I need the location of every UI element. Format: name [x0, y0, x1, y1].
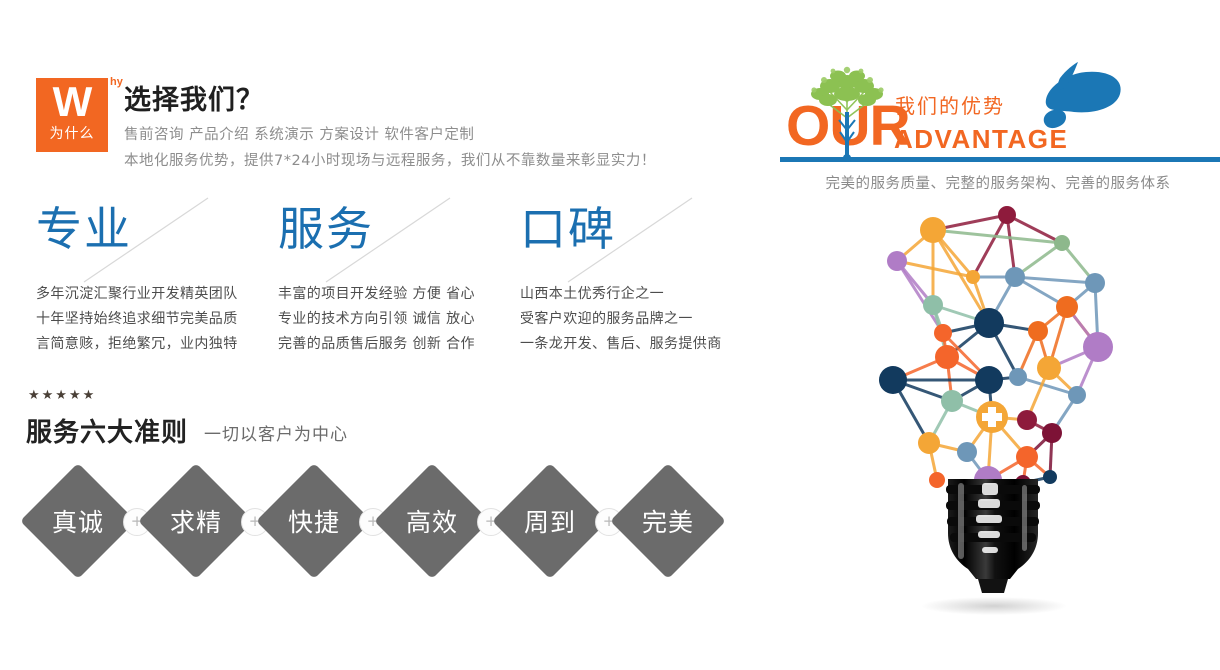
feature-description: 山西本土优秀行企之一 受客户欢迎的服务品牌之一 一条龙开发、售后、服务提供商 — [520, 282, 770, 357]
principle-label: 高效 — [374, 463, 490, 579]
why-logo-mark: W — [36, 78, 108, 124]
network-node-graph — [850, 205, 1150, 505]
principle-label: 完美 — [610, 463, 726, 579]
water-splash-icon — [1038, 60, 1148, 132]
principle-diamond[interactable]: 求精 — [138, 463, 254, 579]
advantage-subtitle: 完美的服务质量、完整的服务架构、完善的服务体系 — [778, 172, 1218, 193]
why-us-services-line: 售前咨询 产品介绍 系统演示 方案设计 软件客户定制 — [124, 123, 474, 144]
principles-title: 服务六大准则 — [26, 412, 188, 449]
principles-subtitle: 一切以客户为中心 — [204, 420, 348, 445]
principle-diamond[interactable]: 完美 — [610, 463, 726, 579]
feature-line: 山西本土优秀行企之一 — [520, 282, 770, 307]
left-panel: W 为什么 hy 选择我们？ 售前咨询 产品介绍 系统演示 方案设计 软件客户定… — [0, 0, 770, 670]
bulb-drop-shadow — [922, 597, 1066, 615]
principle-diamond[interactable]: 真诚 — [20, 463, 136, 579]
feature-line: 受客户欢迎的服务品牌之一 — [520, 307, 770, 332]
lightbulb-network-graphic — [850, 205, 1150, 625]
feature-column-reputation: 口碑 山西本土优秀行企之一 受客户欢迎的服务品牌之一 一条龙开发、售后、服务提供… — [514, 200, 764, 365]
feature-description: 丰富的项目开发经验 方便 省心 专业的技术方向引领 诚信 放心 完善的品质售后服… — [278, 282, 528, 357]
why-us-header: W 为什么 hy 选择我们？ 售前咨询 产品介绍 系统演示 方案设计 软件客户定… — [36, 76, 676, 176]
bulb-screw-base-icon — [938, 475, 1048, 600]
why-us-description-line: 本地化服务优势，提供7*24小时现场与远程服务，我们从不靠数量来彰显实力！ — [124, 149, 656, 170]
why-logo-badge: W 为什么 — [36, 78, 108, 152]
feature-line: 完善的品质售后服务 创新 合作 — [278, 332, 528, 357]
feature-line: 丰富的项目开发经验 方便 省心 — [278, 282, 528, 307]
principle-label: 真诚 — [20, 463, 136, 579]
feature-heading: 专业 — [36, 200, 132, 258]
feature-description: 多年沉淀汇聚行业开发精英团队 十年坚持始终追求细节完美品质 言简意赅，拒绝繁冗，… — [36, 282, 286, 357]
principle-diamond[interactable]: 高效 — [374, 463, 490, 579]
principle-label: 求精 — [138, 463, 254, 579]
principle-label: 快捷 — [256, 463, 372, 579]
feature-line: 十年坚持始终追求细节完美品质 — [36, 307, 286, 332]
why-logo-sub-label: 为什么 — [36, 124, 108, 144]
why-logo-superscript: hy — [110, 76, 123, 88]
feature-line: 专业的技术方向引领 诚信 放心 — [278, 307, 528, 332]
feature-heading: 口碑 — [520, 200, 616, 258]
principle-diamond[interactable]: 周到 — [492, 463, 608, 579]
feature-heading: 服务 — [278, 200, 374, 258]
advantage-chinese-label: 我们的优势 — [895, 90, 1005, 119]
feature-column-professional: 专业 多年沉淀汇聚行业开发精英团队 十年坚持始终追求细节完美品质 言简意赅，拒绝… — [30, 200, 280, 365]
feature-line: 多年沉淀汇聚行业开发精英团队 — [36, 282, 286, 307]
right-panel: OUR — [770, 0, 1220, 670]
principles-diamond-row: 真诚+求精+快捷+高效+周到+完美 — [20, 463, 740, 581]
feature-line: 一条龙开发、售后、服务提供商 — [520, 332, 770, 357]
our-wordmark: OUR — [786, 96, 910, 156]
why-us-title: 选择我们？ — [124, 78, 264, 117]
principle-diamond[interactable]: 快捷 — [256, 463, 372, 579]
star-rating: ★★★★★ — [28, 388, 96, 403]
feature-column-service: 服务 丰富的项目开发经验 方便 省心 专业的技术方向引领 诚信 放心 完善的品质… — [272, 200, 522, 365]
feature-line: 言简意赅，拒绝繁冗，业内独特 — [36, 332, 286, 357]
principle-label: 周到 — [492, 463, 608, 579]
